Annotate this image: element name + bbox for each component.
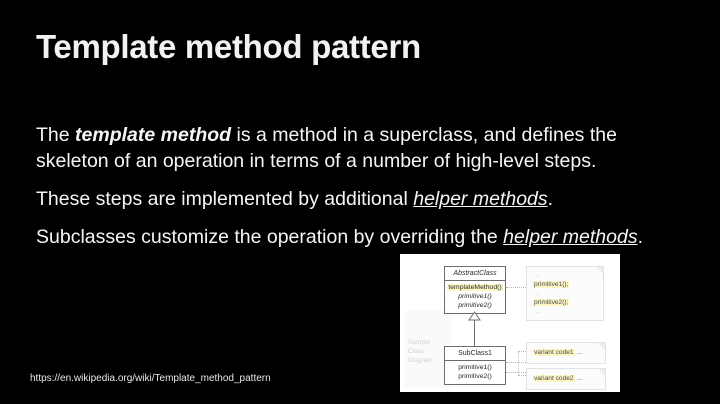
text-run: . xyxy=(548,188,553,210)
text-run: Subclasses customize the operation by ov… xyxy=(36,226,503,248)
note-fold-icon xyxy=(596,267,603,274)
paragraph-steps: These steps are implemented by additiona… xyxy=(36,186,684,212)
uml-note-template-body: ... primitive1(); ... primitive2(); ... xyxy=(526,266,604,321)
uml-diagram-image: Sample Class Diagram AbstractClass templ… xyxy=(400,254,620,392)
uml-note-variant-code2: variant code2 ... xyxy=(526,368,606,390)
note-line: ... xyxy=(527,289,601,298)
emphasis-template-method: template method xyxy=(75,124,231,146)
uml-class-name: AbstractClass xyxy=(445,267,505,281)
diagram-caption-label: Sample Class Diagram xyxy=(408,338,448,365)
connector-vertical xyxy=(518,351,519,375)
uml-class-subclass1: SubClass1 primitive1() primitive2() xyxy=(444,346,506,385)
note-line-primitive2: primitive2(); xyxy=(527,298,601,307)
text-run: . xyxy=(638,226,643,248)
emphasis-helper-methods: helper methods xyxy=(413,188,547,210)
uml-class-name: SubClass1 xyxy=(445,347,505,361)
note-line: ... xyxy=(527,307,601,316)
uml-class-operations: templateMethod() primitive1() primitive2… xyxy=(445,281,505,313)
slide-root: Template method pattern The template met… xyxy=(0,0,720,404)
uml-operation: primitive2() xyxy=(445,372,505,381)
diagram-canvas: Sample Class Diagram AbstractClass templ… xyxy=(400,254,620,392)
text-run: These steps are implemented by additiona… xyxy=(36,188,413,210)
uml-operation: primitive1() xyxy=(445,292,505,301)
note-line-variant1: variant code1 ... xyxy=(527,348,603,357)
uml-operation: primitive1() xyxy=(445,363,505,372)
uml-class-abstractclass: AbstractClass templateMethod() primitive… xyxy=(444,266,506,314)
generalization-triangle-icon xyxy=(468,311,481,321)
note-line-variant2: variant code2 ... xyxy=(527,374,603,383)
uml-class-operations: primitive1() primitive2() xyxy=(445,361,505,384)
paragraph-definition: The template method is a method in a sup… xyxy=(36,122,684,174)
note-line-primitive1: primitive1(); xyxy=(527,280,601,289)
connector-variant2-stub xyxy=(518,375,526,376)
slide-body: The template method is a method in a sup… xyxy=(36,122,684,250)
source-url-link[interactable]: https://en.wikipedia.org/wiki/Template_m… xyxy=(30,373,271,384)
note-line: ... xyxy=(527,271,601,280)
note-fold-icon xyxy=(598,369,605,376)
emphasis-helper-methods: helper methods xyxy=(503,226,637,248)
uml-operation-template-method: templateMethod() xyxy=(445,283,505,292)
connector-primitive1-note xyxy=(506,362,526,363)
page-title: Template method pattern xyxy=(36,28,421,66)
uml-note-variant-code1: variant code1 ... xyxy=(526,342,606,364)
note-fold-icon xyxy=(598,343,605,350)
connector-primitive2-note xyxy=(506,372,526,373)
paragraph-subclasses: Subclasses customize the operation by ov… xyxy=(36,224,684,250)
uml-operation: primitive2() xyxy=(445,301,505,310)
connector-template-method-note xyxy=(506,287,526,288)
text-run: The xyxy=(36,124,75,146)
connector-variant1-stub xyxy=(518,351,526,352)
